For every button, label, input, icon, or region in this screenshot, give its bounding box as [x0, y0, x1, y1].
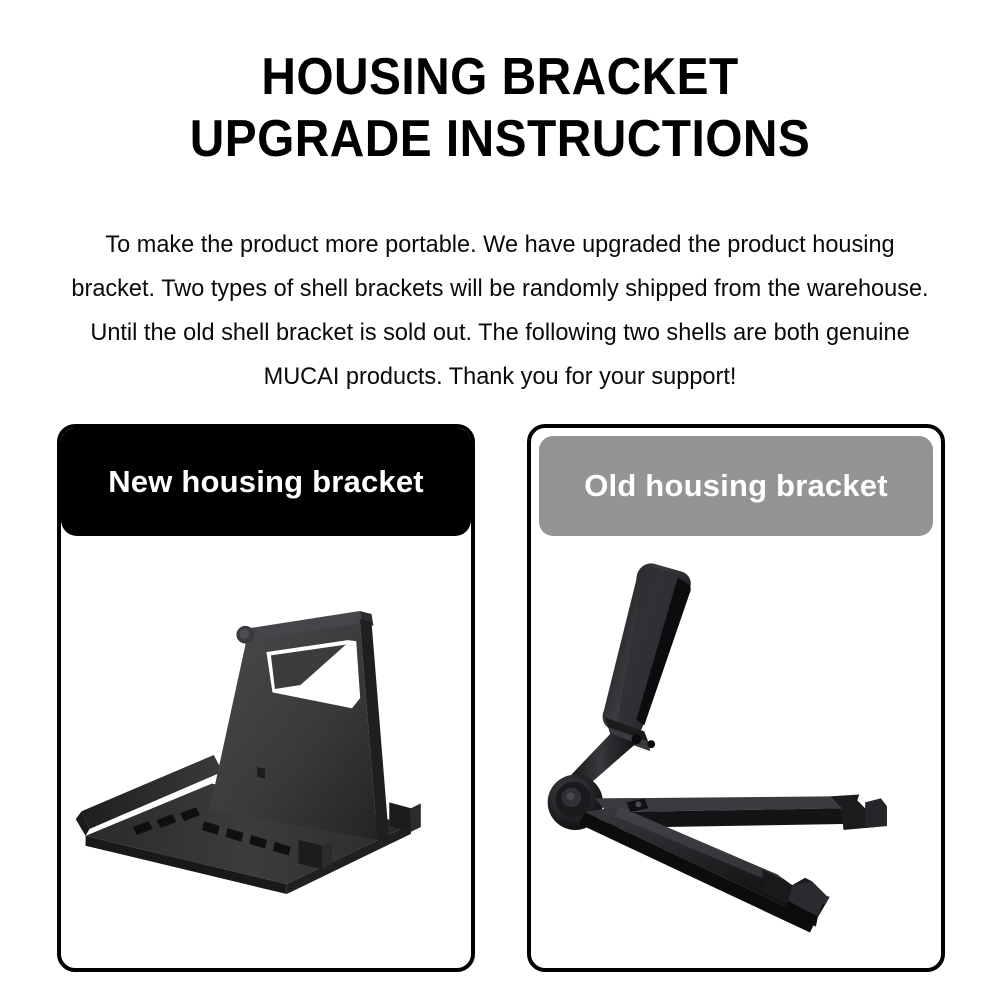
- card-new-header: New housing bracket: [61, 428, 471, 536]
- card-new-product-image: [61, 544, 471, 968]
- comparison-cards: New housing bracket: [0, 424, 1000, 976]
- card-new-header-label: New housing bracket: [108, 464, 424, 500]
- intro-paragraph: To make the product more portable. We ha…: [68, 223, 932, 399]
- page-title: HOUSING BRACKET UPGRADE INSTRUCTIONS: [0, 46, 1000, 170]
- page-title-line-1: HOUSING BRACKET: [40, 46, 960, 108]
- z-shaped-folding-tablet-stand-icon: [531, 544, 941, 968]
- folding-triangular-tablet-stand-icon: [61, 544, 471, 968]
- card-old-header-label: Old housing bracket: [584, 468, 888, 504]
- card-new-housing-bracket: New housing bracket: [57, 424, 475, 972]
- card-old-housing-bracket: Old housing bracket: [527, 424, 945, 972]
- card-old-product-image: [531, 544, 941, 968]
- page-title-line-2: UPGRADE INSTRUCTIONS: [40, 108, 960, 170]
- card-old-header: Old housing bracket: [531, 428, 941, 544]
